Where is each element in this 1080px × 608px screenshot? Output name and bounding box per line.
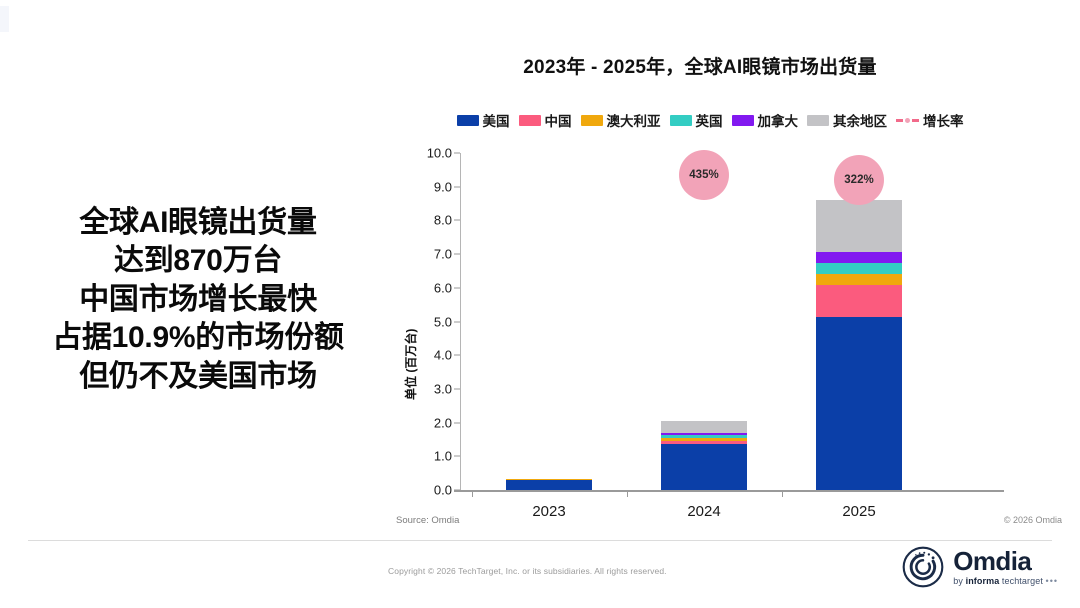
y-tick-label: 2.0 <box>434 415 452 430</box>
legend-item-0[interactable]: 美国 <box>457 110 510 130</box>
growth-rate-bubble-2025: 322% <box>834 155 884 205</box>
bar-segment-澳大利亚[interactable] <box>816 274 902 285</box>
bar-stack-2024[interactable] <box>661 421 747 490</box>
legend-swatch-icon <box>807 115 829 126</box>
bar-segment-美国[interactable] <box>816 317 902 490</box>
source-note: Source: Omdia <box>396 515 459 526</box>
x-axis-label-2024: 2024 <box>644 503 764 520</box>
headline-line-5: 但仍不及美国市场 <box>18 358 378 396</box>
omdia-logo-icon <box>902 546 944 588</box>
bar-segment-美国[interactable] <box>661 444 747 490</box>
omdia-logo: Omdia by informa techtarget ••• <box>902 546 1058 588</box>
omdia-tagline-dots: ••• <box>1046 576 1058 586</box>
y-tick-label: 9.0 <box>434 179 452 194</box>
y-axis-ticks: 0.01.02.03.04.05.06.07.08.09.010.0 <box>414 145 460 490</box>
bar-segment-中国[interactable] <box>816 285 902 317</box>
copyright-right: © 2026 Omdia <box>1004 515 1062 525</box>
x-tick-mark <box>782 490 783 497</box>
legend-label: 澳大利亚 <box>607 110 661 130</box>
y-tick-label: 8.0 <box>434 213 452 228</box>
y-tick-label: 7.0 <box>434 247 452 262</box>
legend-label: 其余地区 <box>833 110 887 130</box>
omdia-wordmark: Omdia by informa techtarget ••• <box>953 548 1058 586</box>
headline-line-2: 达到870万台 <box>18 242 378 280</box>
bar-stack-2023[interactable] <box>506 479 592 490</box>
legend-swatch-icon <box>732 115 754 126</box>
y-tick-label: 3.0 <box>434 381 452 396</box>
legend-label: 增长率 <box>923 110 964 130</box>
y-tick-label: 1.0 <box>434 449 452 464</box>
x-axis-label-2023: 2023 <box>489 503 609 520</box>
legend-item-3[interactable]: 英国 <box>670 110 723 130</box>
headline-line-3: 中国市场增长最快 <box>18 281 378 319</box>
chart-legend: 美国中国澳大利亚英国加拿大其余地区增长率 <box>400 110 1020 130</box>
bar-segment-美国[interactable] <box>506 480 592 490</box>
y-axis-line <box>460 153 461 490</box>
bar-segment-英国[interactable] <box>816 263 902 275</box>
bar-stack-2025[interactable] <box>816 200 902 490</box>
chart-plot-area: 单位 (百万台) 0.01.02.03.04.05.06.07.08.09.01… <box>404 145 1004 520</box>
omdia-tagline-rest: techtarget <box>999 576 1043 586</box>
headline-text: 全球AI眼镜出货量 达到870万台 中国市场增长最快 占据10.9%的市场份额 … <box>18 204 378 396</box>
headline-line-4: 占据10.9%的市场份额 <box>18 319 378 357</box>
y-tick-label: 0.0 <box>434 483 452 498</box>
legend-label: 英国 <box>696 110 723 130</box>
headline-line-1: 全球AI眼镜出货量 <box>18 204 378 242</box>
legend-label: 美国 <box>483 110 510 130</box>
x-axis-label-2025: 2025 <box>799 503 919 520</box>
legend-label: 中国 <box>545 110 572 130</box>
legend-swatch-icon <box>457 115 479 126</box>
x-tick-mark <box>627 490 628 497</box>
x-tick-mark <box>472 490 473 497</box>
y-tick-label: 10.0 <box>427 146 452 161</box>
slide-canvas: 全球AI眼镜出货量 达到870万台 中国市场增长最快 占据10.9%的市场份额 … <box>0 0 1080 608</box>
dashed-line-icon <box>896 118 919 123</box>
legend-item-5[interactable]: 其余地区 <box>807 110 887 130</box>
y-tick-label: 5.0 <box>434 314 452 329</box>
legend-label: 加拿大 <box>758 110 799 130</box>
bar-segment-其余地区[interactable] <box>661 421 747 433</box>
omdia-tagline-by: by <box>953 576 965 586</box>
legend-swatch-icon <box>670 115 692 126</box>
footer-divider <box>28 540 1052 541</box>
bar-segment-其余地区[interactable] <box>816 200 902 252</box>
omdia-name: Omdia <box>953 548 1058 574</box>
legend-swatch-icon <box>581 115 603 126</box>
legend-item-growth-rate[interactable]: 增长率 <box>896 110 964 130</box>
y-tick-label: 6.0 <box>434 280 452 295</box>
legend-item-1[interactable]: 中国 <box>519 110 572 130</box>
x-axis-line <box>454 490 1004 492</box>
legend-swatch-icon <box>519 115 541 126</box>
bar-segment-加拿大[interactable] <box>816 252 902 262</box>
growth-rate-bubble-2024: 435% <box>679 150 729 200</box>
omdia-tagline: by informa techtarget ••• <box>953 577 1058 586</box>
edge-artifact <box>0 6 9 32</box>
chart-title: 2023年 - 2025年，全球AI眼镜市场出货量 <box>400 52 1000 79</box>
omdia-tagline-brand: informa <box>966 576 1000 586</box>
footer-copyright: Copyright © 2026 TechTarget, Inc. or its… <box>388 566 667 576</box>
legend-item-2[interactable]: 澳大利亚 <box>581 110 661 130</box>
legend-item-4[interactable]: 加拿大 <box>732 110 799 130</box>
y-tick-label: 4.0 <box>434 348 452 363</box>
